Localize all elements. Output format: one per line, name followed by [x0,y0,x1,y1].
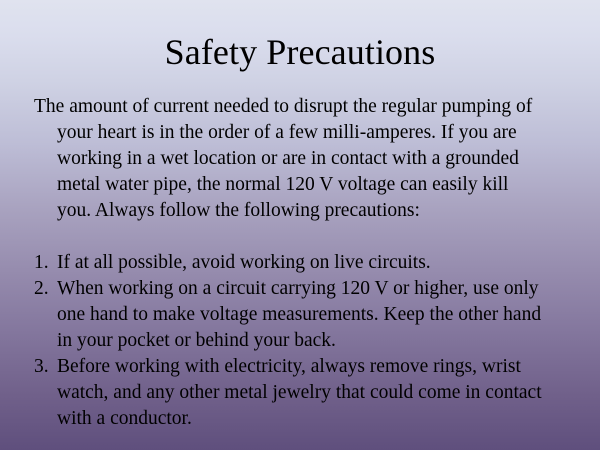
list-item-marker: 1. [34,250,53,276]
slide-body: The amount of current needed to disrupt … [34,94,546,432]
lead-paragraph: The amount of current needed to disrupt … [34,94,546,224]
list-item-marker: 3. [34,354,53,380]
list-item-text: When working on a circuit carrying 120 V… [57,278,541,351]
list-item-text: Before working with electricity, always … [57,356,542,429]
list-item-marker: 2. [34,276,53,302]
list-item: 2.When working on a circuit carrying 120… [34,276,546,354]
precautions-list: 1.If at all possible, avoid working on l… [34,250,546,432]
paragraph-list-spacer [34,224,546,250]
slide-canvas: Safety Precautions The amount of current… [0,0,600,450]
page-title: Safety Precautions [0,30,600,74]
list-item: 1.If at all possible, avoid working on l… [34,250,546,276]
list-item-text: If at all possible, avoid working on liv… [57,252,431,273]
list-item: 3.Before working with electricity, alway… [34,354,546,432]
